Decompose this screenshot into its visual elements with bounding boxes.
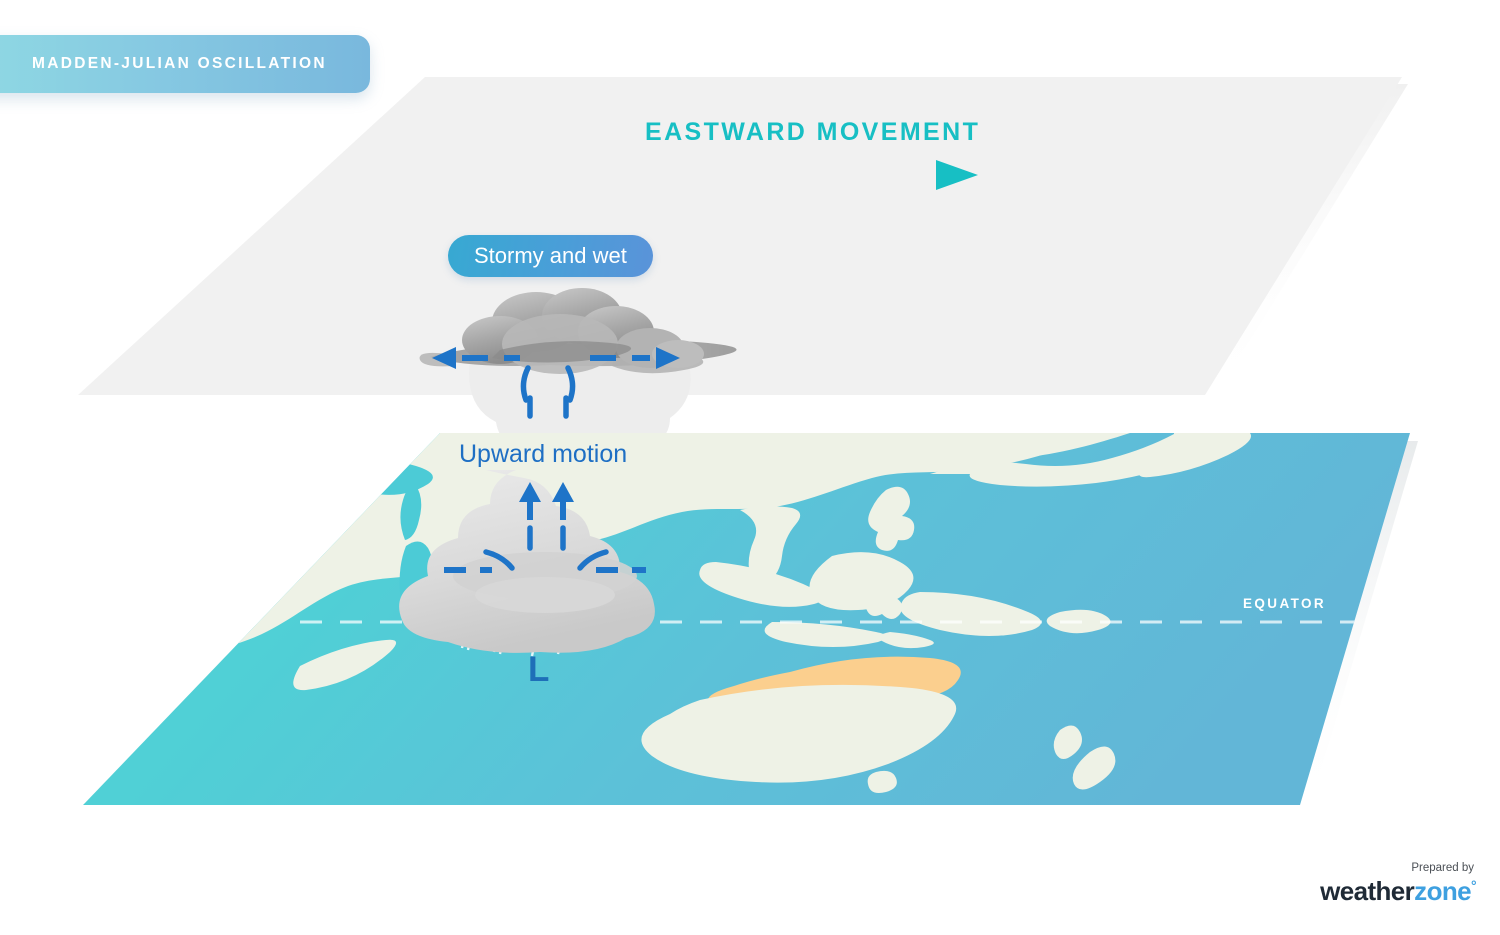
upward-motion-label: Upward motion: [459, 440, 627, 469]
brand-weather: weather: [1320, 876, 1414, 906]
infographic-canvas: MADDEN-JULIAN OSCILLATION EASTWARD MOVEM…: [0, 0, 1500, 935]
surface-map-plane: [0, 0, 1500, 935]
brand-wordmark: weatherzone°: [1320, 876, 1476, 906]
low-pressure-label: L: [528, 650, 549, 690]
brand-degree-icon: °: [1471, 877, 1476, 893]
brand-zone: zone: [1414, 876, 1471, 906]
cloud-base-2: [475, 577, 615, 613]
prepared-by-label: Prepared by: [1320, 862, 1474, 874]
weatherzone-logo: Prepared by weatherzone°: [1320, 862, 1476, 907]
equator-label: EQUATOR: [1243, 596, 1326, 611]
